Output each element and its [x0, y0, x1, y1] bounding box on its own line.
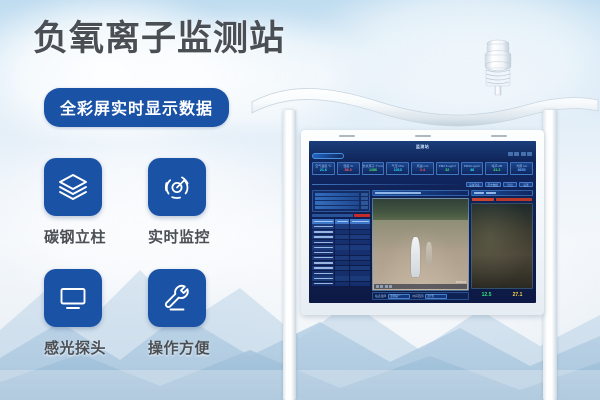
kpi-value: 1286 [363, 168, 384, 173]
table-row[interactable] [312, 230, 370, 234]
stat-summary-box [312, 190, 370, 212]
toolbar-button-3[interactable]: 导出 [503, 182, 517, 188]
table-cell [335, 245, 349, 249]
stat-row [315, 197, 368, 200]
table-cell [312, 261, 334, 265]
kpi-tile[interactable]: PM2.5 ug/m³32 [436, 162, 459, 175]
alert-header-text [486, 192, 496, 194]
feature-label: 感光探头 [44, 337, 148, 358]
layers-icon [57, 171, 89, 203]
monitor-icon [57, 282, 89, 314]
toolbar-divider [312, 184, 464, 185]
table-cell [335, 224, 349, 228]
feature-tile [44, 158, 102, 216]
table-cell [350, 224, 370, 228]
bezel-mark [491, 135, 507, 137]
table-header-cell [350, 219, 370, 224]
alert-header-text [474, 192, 484, 194]
table-cell [350, 245, 370, 249]
toolbar-button-4[interactable]: 设置 [519, 182, 533, 188]
kpi-tile[interactable]: PM10 ug/m³48 [461, 162, 484, 175]
table-row[interactable] [312, 245, 370, 249]
alert-row[interactable] [471, 198, 533, 202]
alert-value-main: 12.5 [482, 292, 492, 298]
kpi-tile[interactable]: 湿度 %56.3 [337, 162, 360, 175]
range-select[interactable]: 近7天 [425, 294, 447, 299]
table-cell [335, 276, 349, 280]
play-icon[interactable] [376, 285, 379, 288]
table-cell [312, 235, 334, 239]
alert-badge-threshold [496, 198, 532, 201]
kpi-value: 41.2 [486, 168, 507, 173]
stat-row [315, 201, 368, 204]
kpi-row: 空气温度 ℃21.6湿度 %56.3负氧离子 个/cm³1286气压 hPa10… [312, 162, 533, 175]
table-cell [312, 276, 334, 280]
table-cell [350, 266, 370, 270]
table-cell [312, 245, 334, 249]
dashboard-center-panel: 09:58:24 站点选择 监测站一 时间范围 近7天 [372, 190, 469, 300]
table-title [312, 214, 353, 218]
table-cell [312, 250, 334, 254]
table-cell [312, 271, 334, 275]
kpi-tile[interactable]: 负氧离子 个/cm³1286 [362, 162, 385, 175]
kpi-value: 1013 [387, 168, 408, 173]
video-subject-person [411, 237, 420, 277]
table-cell [350, 276, 370, 280]
data-table[interactable] [312, 219, 370, 300]
live-video-feed[interactable]: 09:58:24 [372, 198, 469, 291]
support-pole-left [283, 110, 296, 400]
subtitle-badge: 全彩屏实时显示数据 [44, 88, 229, 127]
table-row[interactable] [312, 282, 370, 286]
bezel-mark [415, 135, 431, 137]
table-cell [335, 230, 349, 234]
table-alert-button[interactable] [354, 214, 370, 218]
table-title-bar [312, 213, 370, 218]
table-cell [312, 282, 334, 286]
table-cell [350, 271, 370, 275]
kpi-tile[interactable]: 空气温度 ℃21.6 [312, 162, 335, 175]
table-row[interactable] [312, 224, 370, 228]
video-caption-bar [372, 190, 469, 196]
page-title: 负氧离子监测站 [33, 21, 285, 56]
table-cell [350, 240, 370, 244]
table-cell [335, 266, 349, 270]
kpi-tile[interactable]: 气压 hPa1013 [386, 162, 409, 175]
feature-label: 操作方便 [148, 337, 252, 358]
table-header-cell [312, 219, 334, 224]
table-cell [312, 240, 334, 244]
feature-tile [148, 269, 206, 327]
secondary-camera-feed[interactable] [471, 203, 533, 289]
kpi-value: 56.3 [338, 168, 359, 173]
dashboard-status-icons[interactable] [508, 152, 533, 156]
video-control-bar[interactable] [374, 284, 467, 289]
alert-value-alt: 27.1 [513, 292, 523, 298]
dashboard: 监测站 空气温度 ℃21.6湿度 %56.3负氧离子 个/cm³1286气压 h… [309, 141, 536, 303]
table-cell [350, 230, 370, 234]
video-controls-bar: 站点选择 监测站一 时间范围 近7天 [372, 292, 469, 300]
feature-item-steel-pole[interactable]: 碳钢立柱 [44, 158, 148, 247]
table-row[interactable] [312, 235, 370, 239]
display-screen-frame: 监测站 空气温度 ℃21.6湿度 %56.3负氧离子 个/cm³1286气压 h… [301, 130, 544, 315]
alert-badge-offline [472, 198, 494, 201]
toolbar-button-2[interactable]: 历史数据 [485, 182, 501, 188]
feature-label: 实时监控 [148, 226, 252, 247]
table-header-row [312, 219, 370, 224]
video-treeline [373, 199, 468, 223]
dashboard-tag [312, 153, 344, 159]
table-row[interactable] [312, 256, 370, 260]
dashboard-body: 09:58:24 站点选择 监测站一 时间范围 近7天 [312, 190, 533, 300]
station-select[interactable]: 监测站一 [388, 294, 410, 299]
status-icon [521, 152, 526, 156]
table-row[interactable] [312, 266, 370, 270]
kpi-value: 8650 [511, 168, 532, 173]
status-icon [514, 152, 519, 156]
kpi-tile[interactable]: 光照 lux8650 [510, 162, 533, 175]
table-row[interactable] [312, 271, 370, 275]
alert-values: 12.5 27.1 [471, 290, 533, 300]
table-cell [312, 256, 334, 260]
feature-item-live-monitor[interactable]: 实时监控 [148, 158, 252, 247]
select-label-2: 时间范围 [412, 294, 423, 298]
table-row[interactable] [312, 240, 370, 244]
table-row[interactable] [312, 250, 370, 254]
table-row[interactable] [312, 261, 370, 265]
toolbar-button-1[interactable]: 设备列表 [466, 182, 482, 188]
video-subject-secondary [426, 242, 432, 266]
dashboard-toolbar: 设备列表 历史数据 导出 设置 [312, 181, 533, 188]
table-cell [335, 271, 349, 275]
kpi-tile[interactable]: 噪声 dB41.2 [485, 162, 508, 175]
radar-surveillance-icon [161, 171, 193, 203]
kpi-value: 2.4 [412, 168, 433, 173]
video-field [373, 220, 468, 289]
table-cell [335, 282, 349, 286]
table-cell [350, 235, 370, 239]
table-cell [335, 235, 349, 239]
video-timestamp: 09:58:24 [456, 281, 466, 284]
kpi-value: 21.6 [313, 168, 334, 173]
table-cell [312, 224, 334, 228]
table-cell [335, 240, 349, 244]
pause-icon[interactable] [380, 285, 383, 288]
monitoring-station: 监测站 空气温度 ℃21.6湿度 %56.3负氧离子 个/cm³1286气压 h… [250, 38, 600, 400]
table-cell [350, 256, 370, 260]
video-caption-text [375, 192, 421, 194]
promo-scene: 监测站 空气温度 ℃21.6湿度 %56.3负氧离子 个/cm³1286气压 h… [0, 0, 600, 400]
select-label-1: 站点选择 [375, 294, 386, 298]
kpi-tile[interactable]: 风速 m/s2.4 [411, 162, 434, 175]
status-icon [527, 152, 532, 156]
feature-tile [44, 269, 102, 327]
feature-item-light-sensor[interactable]: 感光探头 [44, 269, 148, 358]
feature-grid: 碳钢立柱 实时监控 [44, 158, 252, 358]
record-icon[interactable] [389, 285, 392, 288]
status-icon [508, 152, 513, 156]
table-row[interactable] [312, 276, 370, 280]
kpi-value: 32 [437, 168, 458, 173]
table-cell [335, 261, 349, 265]
dashboard-left-panel [312, 190, 370, 300]
feature-item-easy-operation[interactable]: 操作方便 [148, 269, 252, 358]
wrench-icon [161, 282, 193, 314]
feature-tile [148, 158, 206, 216]
stat-row [315, 193, 368, 196]
table-cell [335, 250, 349, 254]
table-cell [350, 250, 370, 254]
bezel-mark [339, 135, 355, 137]
kpi-value: 48 [462, 168, 483, 173]
table-cell [350, 261, 370, 265]
table-cell [312, 266, 334, 270]
snapshot-icon[interactable] [385, 285, 388, 288]
support-pole-right [543, 110, 557, 400]
dashboard-right-panel: 12.5 27.1 [471, 190, 533, 300]
table-header-cell [335, 219, 349, 224]
table-cell [335, 256, 349, 260]
table-cell [312, 230, 334, 234]
dashboard-title: 监测站 [309, 144, 536, 150]
table-cell [350, 282, 370, 286]
feature-label: 碳钢立柱 [44, 226, 148, 247]
stat-row [315, 206, 368, 209]
alert-panel-header [471, 190, 533, 196]
